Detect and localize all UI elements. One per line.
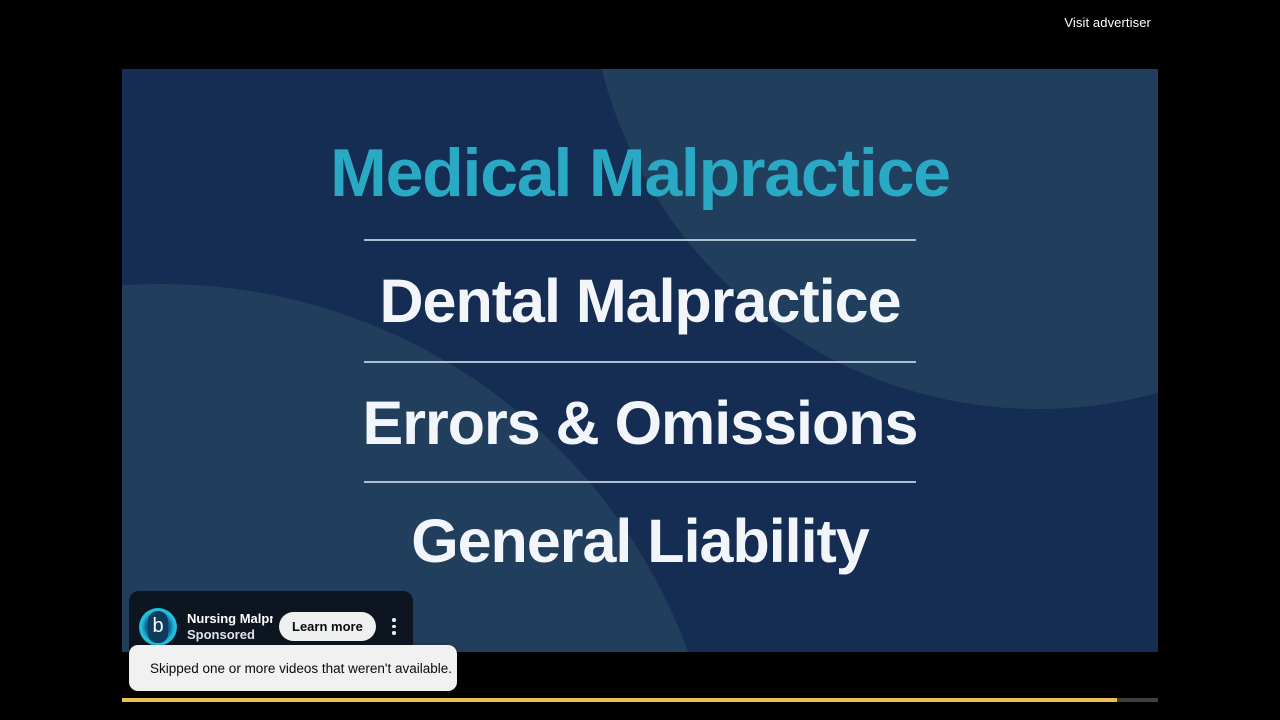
kebab-menu-icon[interactable] [386,611,402,643]
player-top-bar: Visit advertiser [0,0,1280,46]
ad-advertiser-name: Nursing Malpractice... [187,611,273,627]
ad-headline: Medical Malpractice [330,134,950,212]
kebab-dot [392,618,396,622]
video-player[interactable]: Visit advertiser Medical Malpractice Den… [0,0,1280,720]
ad-sponsored-label: Sponsored [187,627,273,643]
divider-2 [364,361,916,363]
ad-progress-bar[interactable] [122,698,1158,702]
ad-line-general-liability: General Liability [411,505,869,577]
ad-line-dental-malpractice: Dental Malpractice [379,265,900,337]
kebab-dot [392,625,396,629]
ad-advertiser-block: Nursing Malpractice... Sponsored [187,611,273,642]
visit-advertiser-link[interactable]: Visit advertiser [1064,13,1151,32]
toast-notification: Skipped one or more videos that weren't … [129,645,457,691]
kebab-dot [392,631,396,635]
learn-more-button[interactable]: Learn more [279,612,376,641]
divider-1 [364,239,916,241]
toast-message: Skipped one or more videos that weren't … [150,661,452,676]
logo-letter: b [152,616,163,636]
ad-creative: Medical Malpractice Dental Malpractice E… [122,69,1158,652]
video-surface[interactable]: Medical Malpractice Dental Malpractice E… [122,69,1158,652]
b-logo-icon: b [139,608,177,646]
ad-line-errors-and-omissions: Errors & Omissions [363,387,918,459]
divider-3 [364,481,916,483]
ad-progress-fill [122,698,1117,702]
